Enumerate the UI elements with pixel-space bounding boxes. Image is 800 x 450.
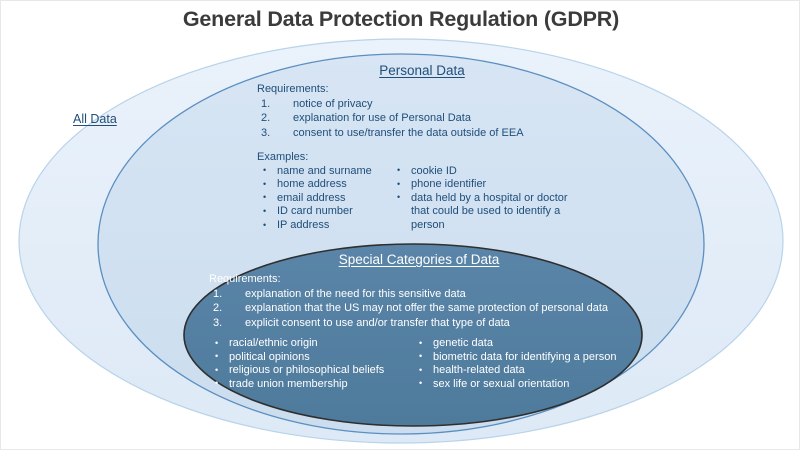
personal-data-examples-label: Examples: <box>257 151 587 165</box>
list-item: •health-related data <box>413 364 629 378</box>
list-item: 3. explicit consent to use and/or transf… <box>209 316 629 331</box>
list-text: biometric data for identifying a person <box>433 351 616 363</box>
list-text: religious or philosophical beliefs <box>229 364 384 376</box>
list-text: political opinions <box>229 351 310 363</box>
bullet-icon: • <box>215 377 218 391</box>
list-item: •email address <box>257 192 391 206</box>
special-categories-requirements-label: Requirements: <box>209 273 629 287</box>
personal-data-heading: Personal Data <box>257 63 587 78</box>
personal-data-examples-columns: •name and surname •home address •email a… <box>257 165 587 233</box>
list-number: 1. <box>213 287 222 302</box>
bullet-icon: • <box>419 350 422 364</box>
personal-data-block: Personal Data Requirements: 1. notice of… <box>257 63 587 233</box>
list-item: •IP address <box>257 219 391 233</box>
list-text: name and surname <box>277 165 372 177</box>
special-categories-requirements-list: 1. explanation of the need for this sens… <box>209 287 629 331</box>
special-categories-examples-column-1: •racial/ethnic origin •political opinion… <box>209 337 413 391</box>
list-item: •trade union membership <box>209 378 413 392</box>
page-title: General Data Protection Regulation (GDPR… <box>1 7 800 32</box>
personal-data-examples-column-1: •name and surname •home address •email a… <box>257 165 391 233</box>
list-item: •data held by a hospital or doctor that … <box>391 192 581 233</box>
bullet-icon: • <box>397 178 400 192</box>
bullet-icon: • <box>263 205 266 219</box>
list-text: genetic data <box>433 337 493 349</box>
bullet-icon: • <box>263 178 266 192</box>
personal-data-requirements-label: Requirements: <box>257 83 587 97</box>
list-number: 2. <box>213 301 222 316</box>
list-text: data held by a hospital or doctor that c… <box>411 192 568 231</box>
special-categories-examples-columns: •racial/ethnic origin •political opinion… <box>209 337 629 391</box>
bullet-icon: • <box>215 350 218 364</box>
list-text: notice of privacy <box>293 98 372 110</box>
bullet-icon: • <box>397 191 400 205</box>
list-item: 3. consent to use/transfer the data outs… <box>257 126 587 141</box>
list-item: •political opinions <box>209 351 413 365</box>
list-number: 3. <box>213 316 222 331</box>
all-data-label: All Data <box>73 112 117 126</box>
bullet-icon: • <box>263 164 266 178</box>
list-number: 1. <box>261 97 270 112</box>
list-text: explanation of the need for this sensiti… <box>245 288 466 300</box>
personal-data-body: Requirements: 1. notice of privacy 2. ex… <box>257 83 587 233</box>
list-text: explanation for use of Personal Data <box>293 112 471 124</box>
list-text: consent to use/transfer the data outside… <box>293 127 524 139</box>
list-item: •genetic data <box>413 337 629 351</box>
special-categories-body: Requirements: 1. explanation of the need… <box>209 273 629 391</box>
list-number: 2. <box>261 111 270 126</box>
list-item: •sex life or sexual orientation <box>413 378 629 392</box>
list-item: •religious or philosophical beliefs <box>209 364 413 378</box>
special-categories-block: Special Categories of Data Requirements:… <box>209 252 629 391</box>
list-text: email address <box>277 192 345 204</box>
list-text: IP address <box>277 219 329 231</box>
list-item: •home address <box>257 178 391 192</box>
list-item: 2. explanation that the US may not offer… <box>209 301 629 316</box>
special-categories-heading: Special Categories of Data <box>209 252 629 267</box>
list-item: •ID card number <box>257 205 391 219</box>
bullet-icon: • <box>419 337 422 351</box>
list-text: ID card number <box>277 205 353 217</box>
list-item: •biometric data for identifying a person <box>413 351 629 365</box>
list-text: explicit consent to use and/or transfer … <box>245 317 510 329</box>
list-item: 1. notice of privacy <box>257 97 587 112</box>
list-text: home address <box>277 178 347 190</box>
gdpr-diagram-canvas: General Data Protection Regulation (GDPR… <box>0 0 800 450</box>
list-text: trade union membership <box>229 378 348 390</box>
bullet-icon: • <box>419 364 422 378</box>
list-item: •racial/ethnic origin <box>209 337 413 351</box>
list-item: •name and surname <box>257 165 391 179</box>
list-text: explanation that the US may not offer th… <box>245 302 608 314</box>
list-item: 1. explanation of the need for this sens… <box>209 287 629 302</box>
list-text: sex life or sexual orientation <box>433 378 569 390</box>
list-number: 3. <box>261 126 270 141</box>
personal-data-examples-column-2: •cookie ID •phone identifier •data held … <box>391 165 581 233</box>
list-item: •phone identifier <box>391 178 581 192</box>
personal-data-requirements-list: 1. notice of privacy 2. explanation for … <box>257 97 587 141</box>
list-text: cookie ID <box>411 165 457 177</box>
bullet-icon: • <box>397 164 400 178</box>
list-item: 2. explanation for use of Personal Data <box>257 111 587 126</box>
bullet-icon: • <box>215 364 218 378</box>
list-text: health-related data <box>433 364 525 376</box>
special-categories-examples-column-2: •genetic data •biometric data for identi… <box>413 337 629 391</box>
bullet-icon: • <box>215 337 218 351</box>
list-text: phone identifier <box>411 178 486 190</box>
list-text: racial/ethnic origin <box>229 337 318 349</box>
bullet-icon: • <box>263 219 266 233</box>
list-item: •cookie ID <box>391 165 581 179</box>
bullet-icon: • <box>419 377 422 391</box>
bullet-icon: • <box>263 191 266 205</box>
